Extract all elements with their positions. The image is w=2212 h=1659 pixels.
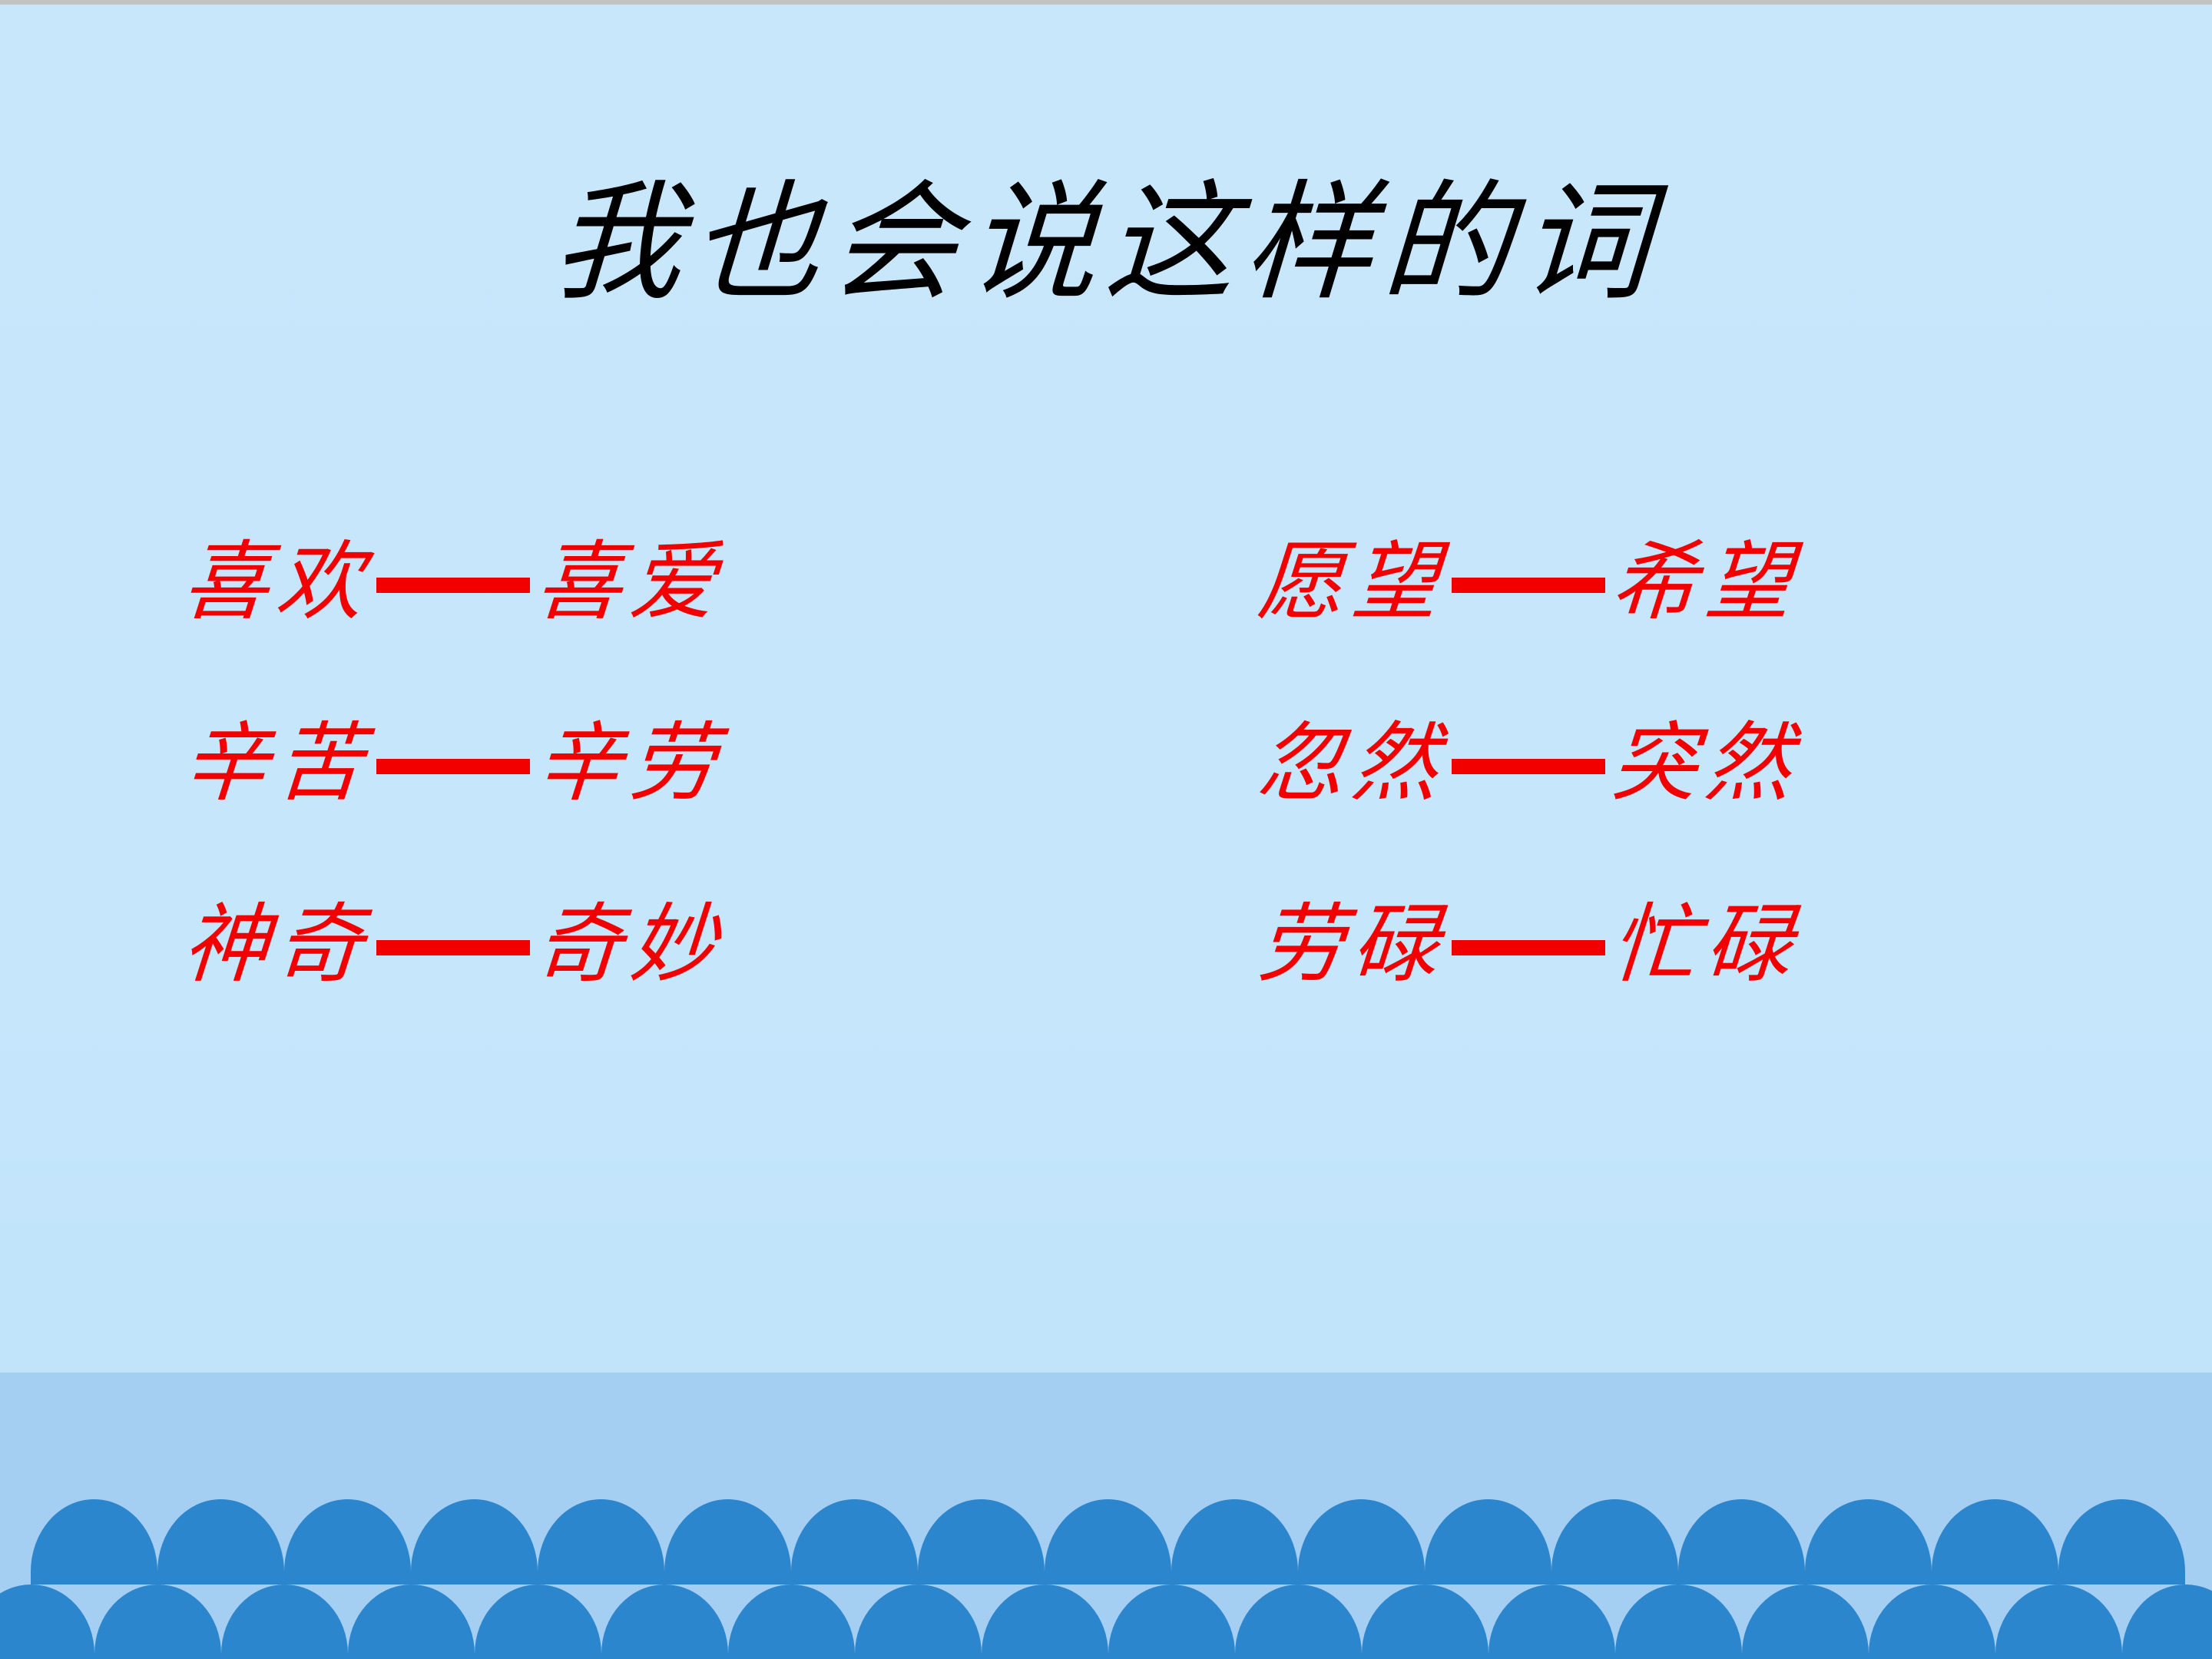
footer-arch-shape	[728, 1584, 855, 1659]
word-pair-column-right: 愿望 希望 忽然 突然 劳碌 忙碌	[1258, 492, 2141, 1035]
em-dash-connector	[376, 578, 530, 593]
footer-arch-shape	[1805, 1499, 1932, 1584]
word-pair-row: 辛苦 辛劳	[183, 673, 1066, 854]
footer-arch-shape	[1171, 1499, 1298, 1584]
word-pair-row: 喜欢 喜爱	[183, 492, 1066, 673]
footer-arch-shape	[601, 1584, 728, 1659]
footer-decoration-band	[0, 1373, 2212, 1659]
footer-arch-row-back	[0, 1499, 2212, 1584]
word-pair-row: 劳碌 忙碌	[1258, 854, 2141, 1035]
em-dash-connector	[1452, 940, 1605, 955]
word-source: 辛苦	[180, 720, 373, 806]
slide-canvas: 我也会说这样的词 喜欢 喜爱 辛苦 辛劳 神奇 奇妙 愿望	[0, 0, 2212, 1659]
footer-arch-shape	[2122, 1584, 2212, 1659]
footer-arch-shape	[1045, 1499, 1171, 1584]
footer-arch-shape	[31, 1499, 157, 1584]
word-source: 神奇	[180, 902, 373, 988]
footer-arch-shape	[1108, 1584, 1235, 1659]
footer-arch-shape	[791, 1499, 918, 1584]
footer-arch-shape	[411, 1499, 538, 1584]
footer-arch-shape	[1678, 1499, 1805, 1584]
word-source: 劳碌	[1255, 902, 1449, 988]
footer-arch-shape	[982, 1584, 1108, 1659]
em-dash-connector	[376, 759, 530, 774]
footer-arch-shape	[221, 1584, 348, 1659]
page-title: 我也会说这样的词	[550, 178, 1663, 307]
footer-arch-shape	[348, 1584, 475, 1659]
footer-arch-row-front	[0, 1584, 2212, 1659]
footer-arch-shape	[157, 1499, 284, 1584]
em-dash-connector	[376, 940, 530, 955]
footer-arch-shape	[2058, 1499, 2185, 1584]
footer-arch-shape	[1488, 1584, 1615, 1659]
word-pair-row: 神奇 奇妙	[183, 854, 1066, 1035]
word-source: 愿望	[1255, 539, 1449, 625]
footer-arch-shape	[538, 1499, 664, 1584]
word-target: 突然	[1608, 720, 1802, 806]
word-target: 奇妙	[533, 902, 727, 988]
footer-arch-shape	[855, 1584, 982, 1659]
footer-arch-shape	[475, 1584, 601, 1659]
footer-arch-shape	[284, 1499, 411, 1584]
word-pair-grid: 喜欢 喜爱 辛苦 辛劳 神奇 奇妙 愿望 希望 忽然	[0, 492, 2212, 1045]
word-pair-row: 忽然 突然	[1258, 673, 2141, 854]
word-pair-column-left: 喜欢 喜爱 辛苦 辛劳 神奇 奇妙	[183, 492, 1066, 1035]
footer-arch-shape	[1362, 1584, 1488, 1659]
footer-arch-shape	[1298, 1499, 1425, 1584]
footer-arch-shape	[1869, 1584, 1995, 1659]
word-target: 希望	[1608, 539, 1802, 625]
word-target: 辛劳	[533, 720, 727, 806]
word-pair-row: 愿望 希望	[1258, 492, 2141, 673]
footer-arch-shape	[664, 1499, 791, 1584]
footer-arch-shape	[1425, 1499, 1551, 1584]
footer-arch-shape	[918, 1499, 1045, 1584]
footer-arch-shape	[1995, 1584, 2122, 1659]
footer-arch-shape	[0, 1584, 94, 1659]
em-dash-connector	[1452, 578, 1605, 593]
footer-arch-shape	[94, 1584, 221, 1659]
word-target: 喜爱	[533, 539, 727, 625]
footer-arch-shape	[1742, 1584, 1869, 1659]
footer-arch-shape	[1235, 1584, 1362, 1659]
footer-arch-shape	[1615, 1584, 1742, 1659]
footer-arch-shape	[1932, 1499, 2058, 1584]
page-title-container: 我也会说这样的词	[0, 178, 2212, 307]
word-source: 忽然	[1255, 720, 1449, 806]
word-target: 忙碌	[1608, 902, 1802, 988]
top-border-line	[0, 0, 2212, 5]
em-dash-connector	[1452, 759, 1605, 774]
word-source: 喜欢	[180, 539, 373, 625]
footer-arch-shape	[1551, 1499, 1678, 1584]
